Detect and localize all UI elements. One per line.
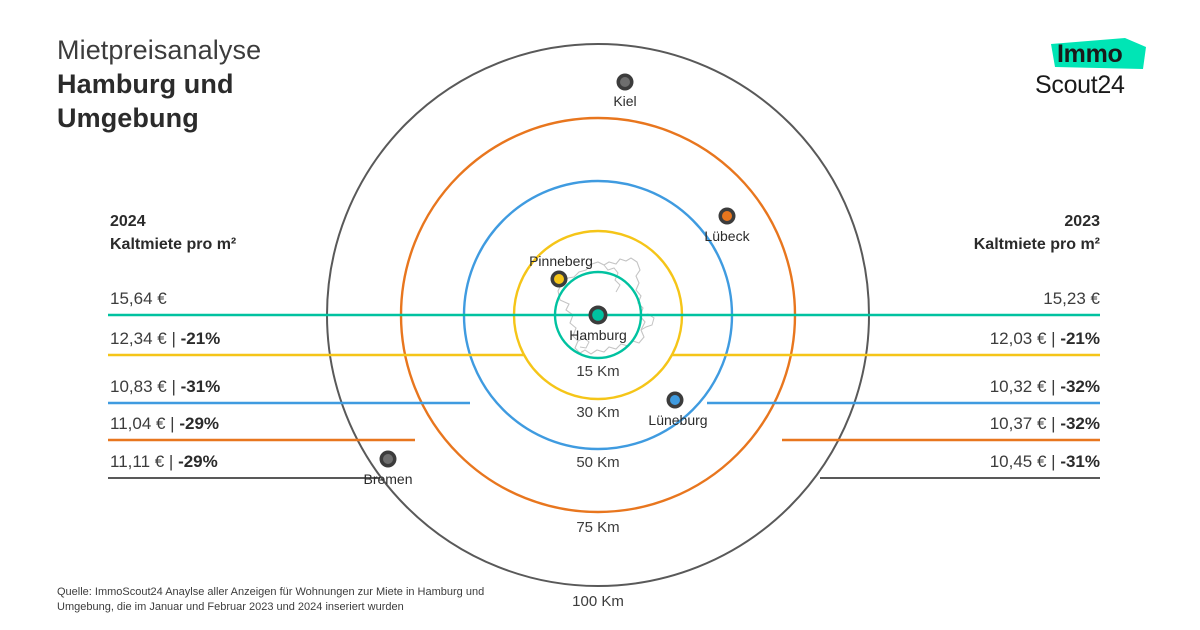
value-2024-50km-delta: -31% [181,377,221,396]
column-header-2023-subtitle: Kaltmiete pro m² [974,233,1100,256]
city-label-lubeck: Lübeck [704,227,749,245]
value-2024-75km-amount: 11,04 € | [110,414,179,433]
ring-label-30km: 30 Km [576,403,619,422]
city-marker-kiel [617,74,634,91]
value-2023-30km-amount: 12,03 € | [990,329,1061,348]
ring-label-15km: 15 Km [576,362,619,381]
source-footnote: Quelle: ImmoScout24 Anaylse aller Anzeig… [57,585,527,615]
value-2024-30km-delta: -21% [181,329,221,348]
ring-label-100km: 100 Km [572,592,624,611]
value-2023-100km: 10,45 € | -31% [990,451,1100,473]
value-2023-50km-delta: -32% [1060,377,1100,396]
city-label-kiel: Kiel [613,92,636,110]
value-2024-50km: 10,83 € | -31% [110,376,220,398]
column-header-2023: 2023 Kaltmiete pro m² [974,210,1100,256]
column-header-2024-year: 2024 [110,210,236,233]
value-2023-75km-delta: -32% [1060,414,1100,433]
column-header-2024-subtitle: Kaltmiete pro m² [110,233,236,256]
value-2024-15km-amount: 15,64 € [110,289,167,308]
value-2024-30km-amount: 12,34 € | [110,329,181,348]
value-2023-15km: 15,23 € [1043,288,1100,310]
immoscout24-logo[interactable]: Immo Scout24 [1035,38,1160,104]
value-2024-30km: 12,34 € | -21% [110,328,220,350]
value-2023-30km-delta: -21% [1060,329,1100,348]
value-2024-100km: 11,11 € | -29% [110,451,218,473]
value-2023-50km: 10,32 € | -32% [990,376,1100,398]
value-2024-15km: 15,64 € [110,288,167,310]
ring-label-75km: 75 Km [576,518,619,537]
title-line-3: Umgebung [57,101,261,135]
value-2023-50km-amount: 10,32 € | [990,377,1061,396]
value-2024-100km-delta: -29% [178,452,218,471]
value-2023-15km-amount: 15,23 € [1043,289,1100,308]
city-label-luneburg: Lüneburg [648,411,707,429]
value-2023-30km: 12,03 € | -21% [990,328,1100,350]
value-2023-100km-delta: -31% [1060,452,1100,471]
value-2023-100km-amount: 10,45 € | [990,452,1061,471]
city-label-bremen: Bremen [363,470,412,488]
value-2023-75km: 10,37 € | -32% [990,413,1100,435]
city-label-pinneberg: Pinneberg [529,252,593,270]
city-marker-luneburg [667,392,684,409]
value-2024-100km-amount: 11,11 € | [110,452,178,471]
city-marker-bremen [380,451,397,468]
infographic-canvas: Mietpreisanalyse Hamburg und Umgebung Im… [0,0,1200,630]
city-marker-lubeck [719,208,736,225]
value-2024-50km-amount: 10,83 € | [110,377,181,396]
city-marker-hamburg [589,306,608,325]
logo-scout-text: Scout24 [1035,70,1125,101]
title-line-1: Mietpreisanalyse [57,33,261,67]
column-header-2024: 2024 Kaltmiete pro m² [110,210,236,256]
value-2024-75km-delta: -29% [179,414,219,433]
page-title: Mietpreisanalyse Hamburg und Umgebung [57,33,261,135]
title-line-2: Hamburg und [57,67,261,101]
city-marker-pinneberg [551,271,568,288]
logo-immo-text: Immo [1057,39,1122,70]
column-header-2023-year: 2023 [974,210,1100,233]
value-2023-75km-amount: 10,37 € | [990,414,1061,433]
value-2024-75km: 11,04 € | -29% [110,413,219,435]
ring-label-50km: 50 Km [576,453,619,472]
city-label-hamburg: Hamburg [569,326,627,344]
